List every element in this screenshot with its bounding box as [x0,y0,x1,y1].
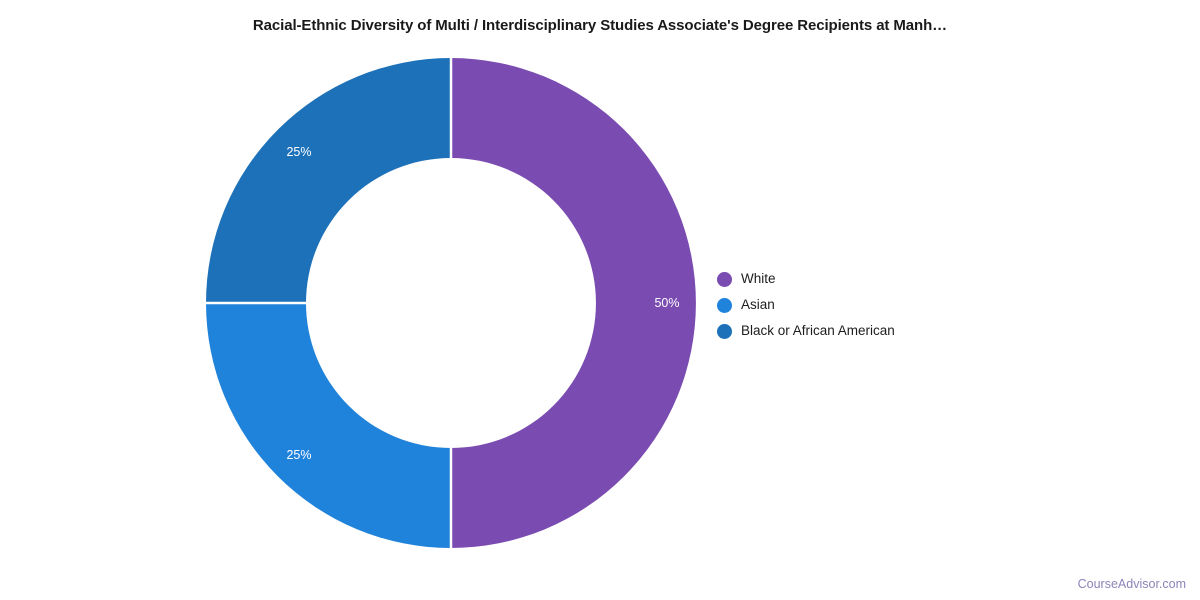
legend-swatch-icon [717,324,732,339]
legend-item-label: Black or African American [741,324,895,338]
legend-item-white[interactable]: White [717,266,895,292]
watermark-courseadvisor[interactable]: CourseAdvisor.com [1078,577,1186,591]
legend-item-label: White [741,272,776,286]
chart-canvas: Racial-Ethnic Diversity of Multi / Inter… [0,0,1200,600]
legend-item-label: Asian [741,298,775,312]
legend-item-asian[interactable]: Asian [717,292,895,318]
slice-value-asian: 25% [286,448,311,462]
pie-slice-asian[interactable] [206,303,451,548]
legend-item-black-or-african-american[interactable]: Black or African American [717,318,895,344]
chart-title: Racial-Ethnic Diversity of Multi / Inter… [0,17,1200,34]
legend-swatch-icon [717,298,732,313]
pie-slice-black-or-african-american[interactable] [206,58,451,303]
legend-swatch-icon [717,272,732,287]
donut-chart [206,58,696,548]
slice-value-black-or-african-american: 25% [286,145,311,159]
chart-legend: White Asian Black or African American [717,266,895,344]
slice-value-white: 50% [654,296,679,310]
donut-svg [206,58,696,548]
